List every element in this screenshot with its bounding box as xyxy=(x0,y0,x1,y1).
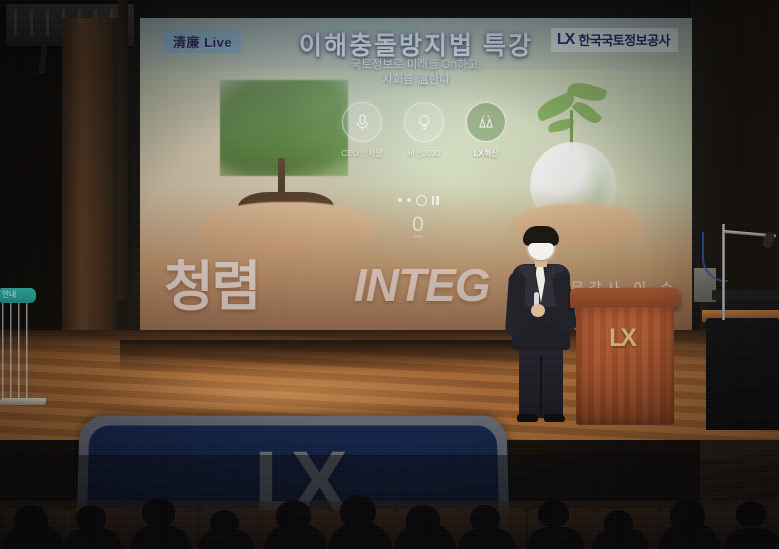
podium-top-surface xyxy=(570,288,680,308)
left-sign-stand: 안내 xyxy=(0,288,44,408)
slide-nav-item-ceo[interactable]: CEO 인사말 xyxy=(336,102,388,172)
slide-player-widget[interactable]: 0 ˇˇ xyxy=(388,194,448,246)
left-wall-pillar xyxy=(62,18,120,348)
microphone-icon xyxy=(342,102,382,142)
sign-stand-base xyxy=(0,398,47,405)
player-dot xyxy=(398,198,402,202)
podium: LX xyxy=(572,288,678,428)
stage-floor-shadow xyxy=(120,340,540,372)
handshake-glyph xyxy=(478,114,494,130)
lx-corporate-name: 한국국토정보공사 xyxy=(578,30,670,49)
lx-logo-mark: LX xyxy=(557,31,573,49)
microphone-glyph xyxy=(355,114,370,131)
pause-icon[interactable] xyxy=(432,196,439,205)
headline-english: INTEG xyxy=(354,258,490,312)
projected-slide: 清廉 Live 이해충돌방지법 특강 국토정보로 미래를 On하고, 사회를 溫… xyxy=(140,18,692,330)
audience-dim-overlay xyxy=(0,455,779,549)
slide-nav-item-vision[interactable]: 비전2030 xyxy=(398,102,450,172)
slide-nav-item-innovation[interactable]: LX혁신 xyxy=(460,102,512,172)
speaker-hand xyxy=(531,304,545,317)
podium-lx-logo: LX xyxy=(572,324,670,353)
slide-subtitle-line1: 국토정보로 미래를 On하고, xyxy=(140,58,692,73)
speaker-shoe xyxy=(544,414,565,422)
slide-nav-label-vision: 비전2030 xyxy=(398,148,450,159)
speaker-leg-seam xyxy=(540,356,542,414)
speaker-person xyxy=(504,228,578,424)
projection-screen: 清廉 Live 이해충돌방지법 특강 국토정보로 미래를 On하고, 사회를 溫… xyxy=(140,18,692,330)
information-sign-label: 안내 xyxy=(2,289,16,300)
equipment-table-drape xyxy=(706,318,779,430)
player-dot xyxy=(407,198,411,202)
handshake-icon xyxy=(466,102,506,142)
slide-nav-label-innovation: LX혁신 xyxy=(460,148,512,159)
slide-nav-icon-row: CEO 인사말 비전2030 xyxy=(336,102,512,172)
speaker-shoe xyxy=(517,414,538,422)
auditorium-stage-photo: 清廉 Live 이해충돌방지법 특강 국토정보로 미래를 On하고, 사회를 溫… xyxy=(0,0,779,549)
lx-corporate-logo-block: LX 한국국토정보공사 xyxy=(551,28,678,52)
equipment-deck-lower xyxy=(708,302,779,310)
left-door-frame xyxy=(118,0,128,300)
audience-area xyxy=(0,455,779,549)
lightbulb-icon xyxy=(404,102,444,142)
sign-stand-legs xyxy=(2,303,34,401)
slide-subtitle-line2: 사회를 溫한다 xyxy=(140,73,692,88)
information-sign-board: 안내 xyxy=(0,288,36,303)
slide-nav-label-ceo: CEO 인사말 xyxy=(336,148,388,159)
player-controls[interactable] xyxy=(388,194,448,206)
microphone-stand-pole xyxy=(722,224,725,320)
player-counter: 0 xyxy=(388,215,448,235)
player-circle-icon xyxy=(416,195,427,206)
lightbulb-glyph xyxy=(417,114,432,131)
headline-korean: 청렴 xyxy=(164,242,259,321)
slide-subtitle: 국토정보로 미래를 On하고, 사회를 溫한다 xyxy=(140,58,692,88)
